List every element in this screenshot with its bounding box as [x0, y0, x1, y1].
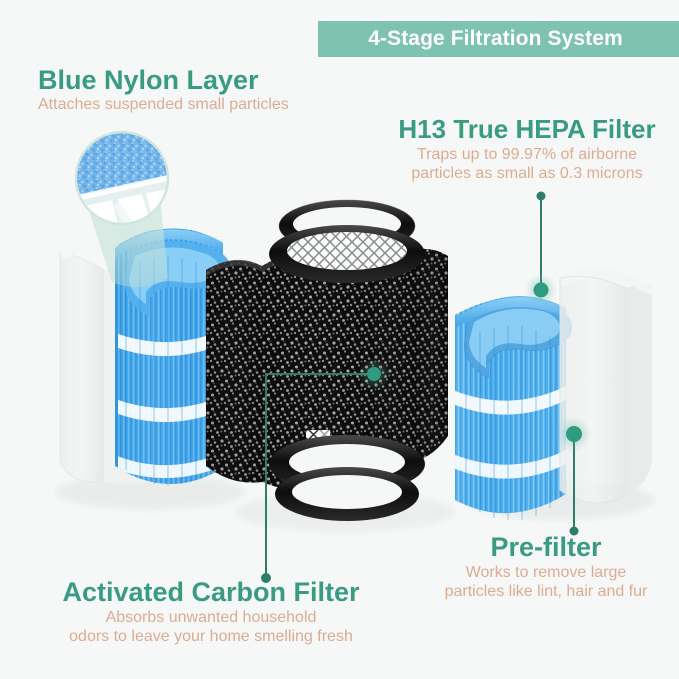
hepa-connector — [524, 192, 558, 308]
callout-blue-nylon-subtitle: Attaches suspended small particles — [38, 96, 289, 115]
callout-pre-filter: Pre-filter Works to remove large particl… — [418, 533, 674, 602]
header-banner: 4-Stage Filtration System — [318, 21, 679, 57]
callout-hepa-subtitle-line2: particles as small as 0.3 microns — [386, 165, 668, 184]
callout-hepa-subtitle-line1: Traps up to 99.97% of airborne — [386, 146, 668, 165]
callout-activated-carbon-subtitle-line2: odors to leave your home smelling fresh — [56, 628, 366, 647]
callout-blue-nylon-title: Blue Nylon Layer — [38, 66, 289, 94]
callout-pre-filter-subtitle-line1: Works to remove large — [418, 564, 674, 583]
callout-activated-carbon: Activated Carbon Filter Absorbs unwanted… — [56, 578, 366, 647]
callout-hepa-title: H13 True HEPA Filter — [386, 116, 668, 143]
header-banner-label: 4-Stage Filtration System — [368, 27, 629, 51]
callout-blue-nylon: Blue Nylon Layer Attaches suspended smal… — [38, 66, 289, 115]
infographic-canvas: 4-Stage Filtration System Blue Nylon Lay… — [0, 0, 679, 679]
ring-top-cap — [269, 225, 425, 283]
callout-pre-filter-subtitle-line2: particles like lint, hair and fur — [418, 583, 674, 602]
ring-bottom-lower — [275, 467, 419, 521]
callout-hepa: H13 True HEPA Filter Traps up to 99.97% … — [386, 116, 668, 184]
callout-activated-carbon-title: Activated Carbon Filter — [56, 578, 366, 606]
callout-pre-filter-title: Pre-filter — [418, 533, 674, 561]
callout-activated-carbon-subtitle-line1: Absorbs unwanted household — [56, 609, 366, 628]
